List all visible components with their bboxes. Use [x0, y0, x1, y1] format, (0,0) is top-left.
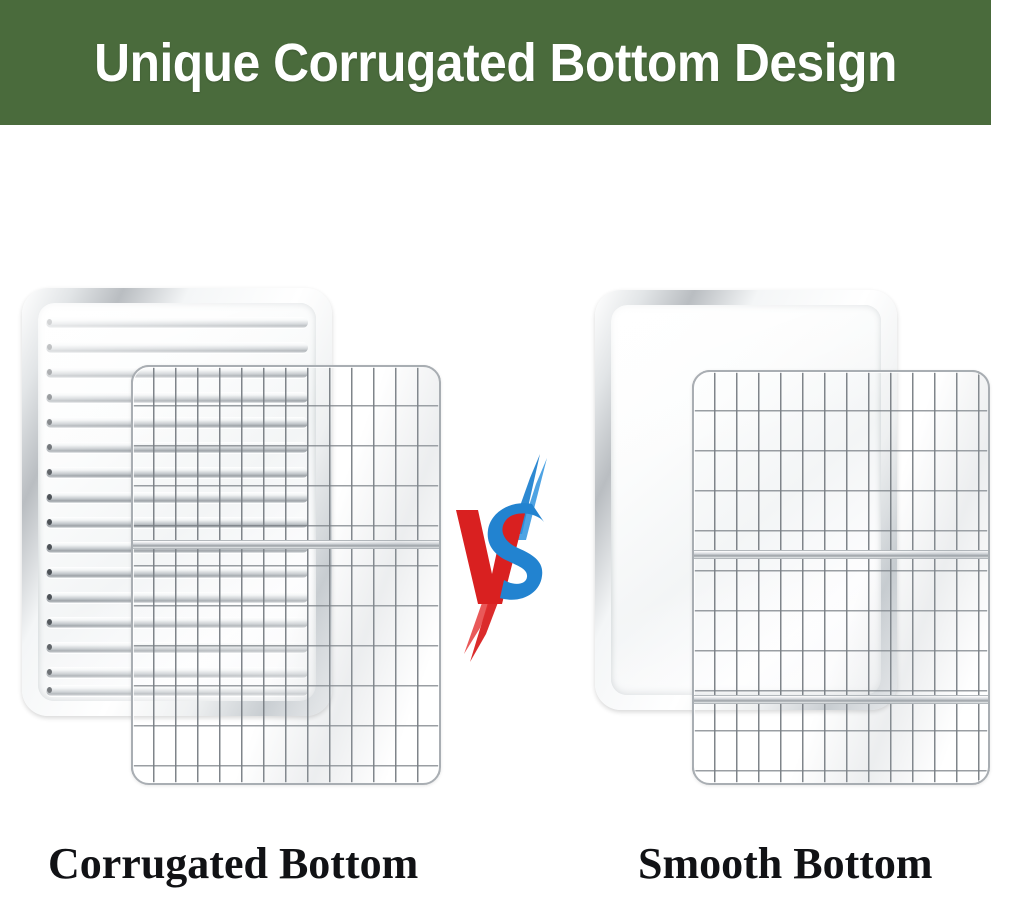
page-title: Unique Corrugated Bottom Design [40, 0, 952, 125]
corrugated-wire-rack [131, 365, 441, 785]
caption-left: Corrugated Bottom [48, 838, 418, 889]
rack-support-bar-top [694, 550, 988, 559]
rack-frame [692, 370, 990, 785]
rack-frame [131, 365, 441, 785]
versus-logo: VS [452, 448, 562, 668]
header-banner: Unique Corrugated Bottom Design [0, 0, 991, 125]
product-comparison-image: Unique Corrugated Bottom Design [0, 0, 1010, 900]
caption-right: Smooth Bottom [638, 838, 933, 889]
rack-support-bar [133, 540, 439, 549]
rack-support-bar-bottom [694, 695, 988, 704]
smooth-wire-rack [692, 370, 990, 785]
